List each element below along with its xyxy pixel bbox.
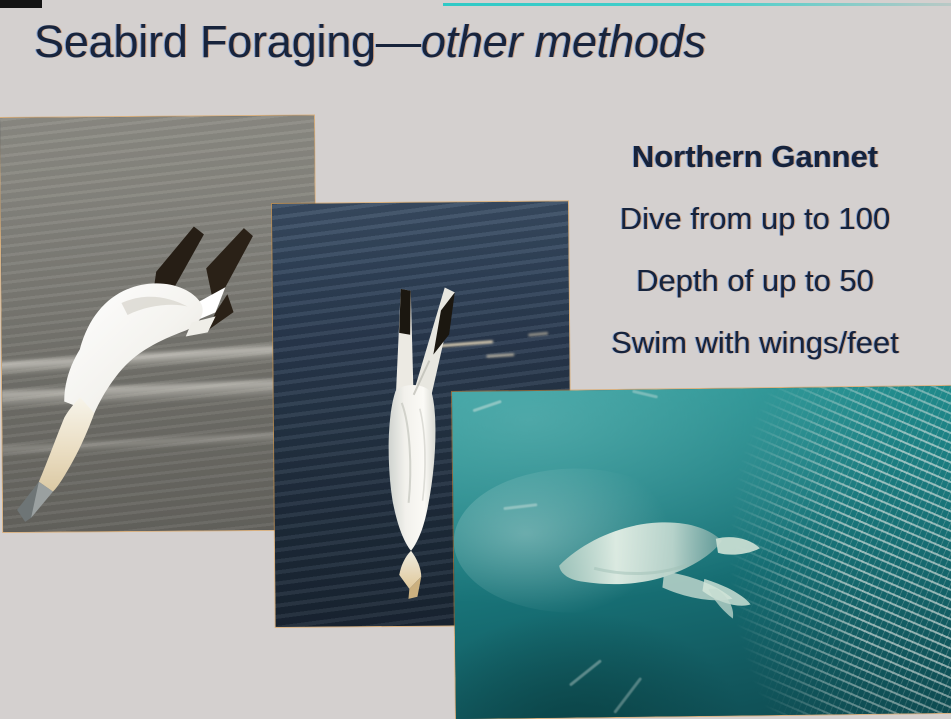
slide-title-emphasis: other methods	[421, 16, 706, 67]
top-accent-rule	[443, 3, 951, 6]
top-left-dark-bar	[0, 0, 42, 8]
body-bullet-3: Swim with wings/feet	[520, 312, 951, 374]
photo-gannet-diving-over-grey-sea	[0, 116, 317, 532]
slide-title-dash: —	[376, 16, 421, 67]
photo-gannet-underwater-with-baitball	[452, 386, 951, 719]
body-bullet-1: Dive from up to 100	[520, 188, 951, 250]
body-bullet-2: Depth of up to 50	[520, 250, 951, 312]
slide-title-main: Seabird Foraging	[34, 16, 376, 67]
body-text-block: Northern Gannet Dive from up to 100 Dept…	[520, 126, 951, 374]
gannet-underwater-illustration	[452, 386, 951, 719]
slide-title: Seabird Foraging—other methods	[34, 18, 706, 65]
gannet-diving-illustration	[0, 116, 317, 532]
presentation-slide: Seabird Foraging—other methods	[0, 0, 951, 719]
body-heading: Northern Gannet	[520, 126, 951, 188]
